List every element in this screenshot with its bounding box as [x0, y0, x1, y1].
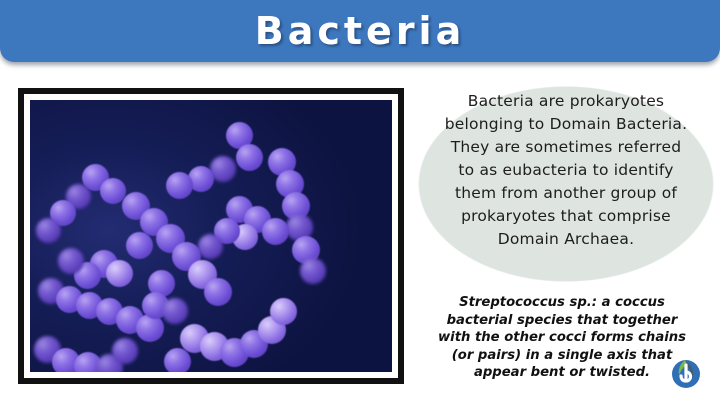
description-line: Domain Archaea.	[418, 228, 714, 251]
image-mat	[24, 94, 398, 378]
page-header-bar: Bacteria	[0, 0, 720, 62]
figure-caption: Streptococcus sp.: a coccus bacterial sp…	[418, 294, 706, 382]
caption-line: (or pairs) in a single axis that	[418, 347, 706, 365]
right-column: Bacteria are prokaryotes belonging to Do…	[412, 76, 716, 396]
caption-line: appear bent or twisted.	[418, 364, 706, 382]
caption-line: with the other cocci forms chains	[418, 329, 706, 347]
biology-online-logo[interactable]	[668, 355, 704, 391]
description-line: Bacteria are prokaryotes	[418, 90, 714, 113]
bacteria-micrograph	[30, 100, 392, 372]
image-frame	[18, 88, 404, 384]
description-line: belonging to Domain Bacteria.	[418, 113, 714, 136]
description-line: them from another group of	[418, 182, 714, 205]
description-line: They are sometimes referred	[418, 136, 714, 159]
description-text: Bacteria are prokaryotes belonging to Do…	[418, 90, 714, 251]
caption-line: bacterial species that together	[418, 312, 706, 330]
page-title: Bacteria	[0, 0, 720, 62]
description-line: to as eubacteria to identify	[418, 159, 714, 182]
description-line: prokaryotes that comprise	[418, 205, 714, 228]
logo-icon	[668, 355, 704, 391]
caption-line: Streptococcus sp.: a coccus	[418, 294, 706, 312]
